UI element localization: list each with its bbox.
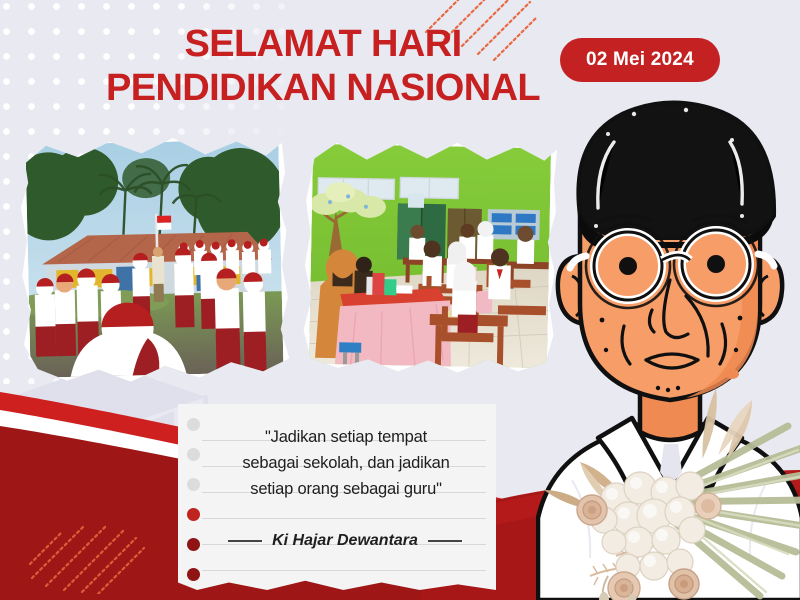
quote-line-2: sebagai sekolah, dan jadikan	[208, 450, 484, 476]
flag-ceremony-photo	[19, 133, 289, 384]
poster-canvas: SELAMAT HARI PENDIDIKAN NASIONAL 02 Mei …	[0, 0, 800, 600]
binder-holes	[187, 418, 209, 590]
quote-line-1: "Jadikan setiap tempat	[208, 424, 484, 450]
binder-hole-1	[187, 418, 200, 431]
quote-text: "Jadikan setiap tempat sebagai sekolah, …	[208, 424, 484, 502]
quote-attribution: Ki Hajar Dewantara	[204, 532, 486, 550]
binder-hole-6	[187, 568, 200, 581]
quote-author: Ki Hajar Dewantara	[272, 532, 418, 550]
attribution-dash-right	[428, 540, 462, 542]
title-line-2: PENDIDIKAN NASIONAL	[88, 66, 558, 110]
portrait-eye-right	[707, 255, 725, 273]
dried-flower-bouquet	[520, 370, 800, 600]
binder-hole-5	[187, 538, 200, 551]
title-line-1: SELAMAT HARI	[88, 22, 558, 66]
classroom-photo	[303, 138, 557, 375]
binder-hole-3	[187, 478, 200, 491]
date-badge: 02 Mei 2024	[560, 38, 720, 82]
portrait-eye-left	[619, 257, 637, 275]
portrait-peci-cap	[578, 102, 774, 248]
page-title: SELAMAT HARI PENDIDIKAN NASIONAL	[88, 22, 558, 110]
binder-hole-2	[187, 448, 200, 461]
quote-card: "Jadikan setiap tempat sebagai sekolah, …	[178, 404, 496, 590]
quote-line-3: setiap orang sebagai guru"	[208, 476, 484, 502]
attribution-dash-left	[228, 540, 262, 542]
flag-ceremony-photo-image	[25, 139, 283, 378]
binder-hole-4	[187, 508, 200, 521]
classroom-photo-image	[309, 144, 551, 369]
